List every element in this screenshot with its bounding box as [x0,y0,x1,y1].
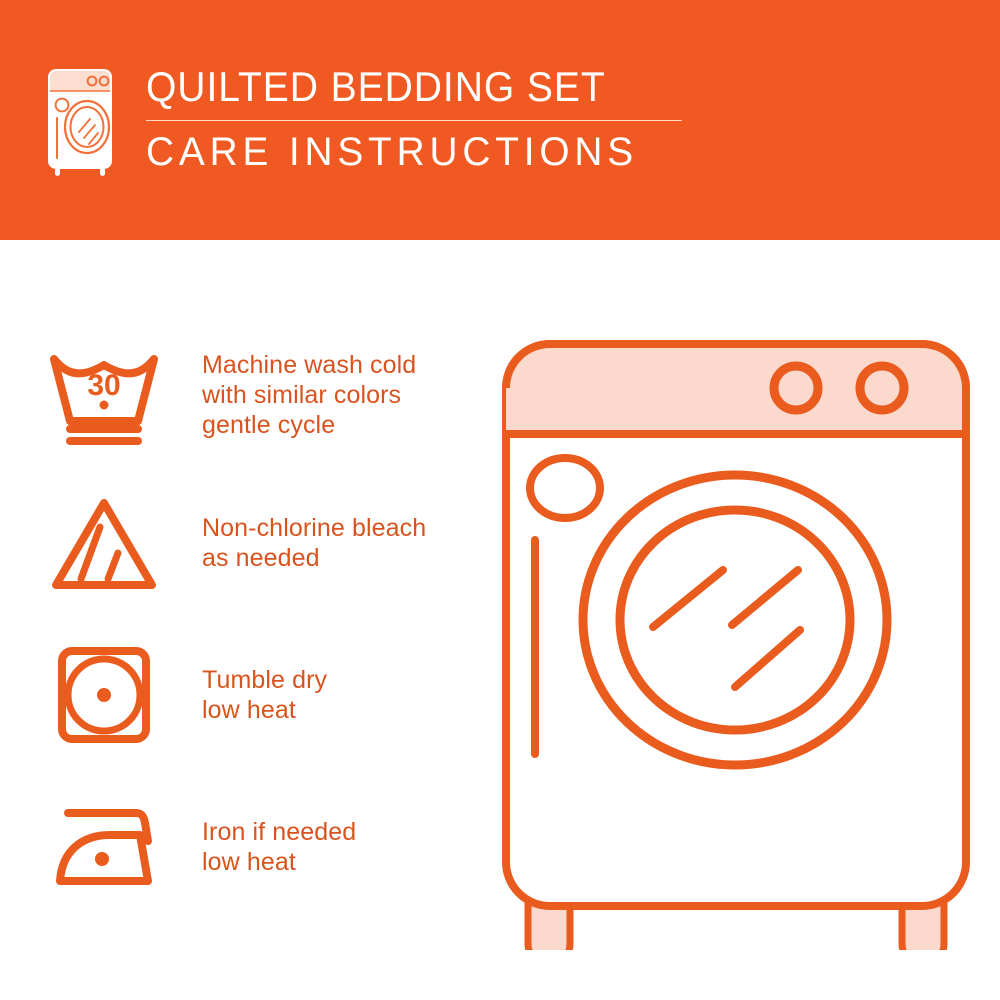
care-instruction-list: 30 Machine wash cold with similar colors… [0,240,500,1000]
care-row-iron: Iron if needed low heat [44,792,494,902]
knob-left [774,366,818,410]
iron-icon [44,792,164,902]
care-row-wash: 30 Machine wash cold with similar colors… [44,340,494,450]
care-text-iron: Iron if needed low heat [202,817,356,877]
care-text-line: Machine wash cold [202,350,416,380]
care-text-line: as needed [202,543,426,573]
care-text-line: with similar colors [202,380,416,410]
page-header: QUILTED BEDDING SET CARE INSTRUCTIONS [0,0,1000,240]
care-text-tumble-dry: Tumble dry low heat [202,665,327,725]
bleach-triangle-icon [44,488,164,598]
washing-machine-icon [42,62,124,178]
wash-tub-icon: 30 [44,340,164,450]
care-text-bleach: Non-chlorine bleach as needed [202,513,426,573]
care-row-bleach: Non-chlorine bleach as needed [44,488,494,598]
wash-temperature-label: 30 [87,369,120,402]
title-divider [146,120,682,121]
header-title-block: QUILTED BEDDING SET CARE INSTRUCTIONS [146,62,682,174]
page-subtitle: CARE INSTRUCTIONS [146,130,666,174]
care-text-line: Iron if needed [202,817,356,847]
care-text-line: Tumble dry [202,665,327,695]
care-text-line: low heat [202,847,356,877]
care-text-wash: Machine wash cold with similar colors ge… [202,350,416,440]
care-row-tumble-dry: Tumble dry low heat [44,640,494,750]
header-content: QUILTED BEDDING SET CARE INSTRUCTIONS [42,62,682,178]
tumble-dry-icon [44,640,164,750]
knob-right [860,366,904,410]
page-title: QUILTED BEDDING SET [146,64,644,110]
care-text-line: Non-chlorine bleach [202,513,426,543]
washing-machine-illustration [490,330,980,950]
care-text-line: gentle cycle [202,410,416,440]
care-text-line: low heat [202,695,327,725]
